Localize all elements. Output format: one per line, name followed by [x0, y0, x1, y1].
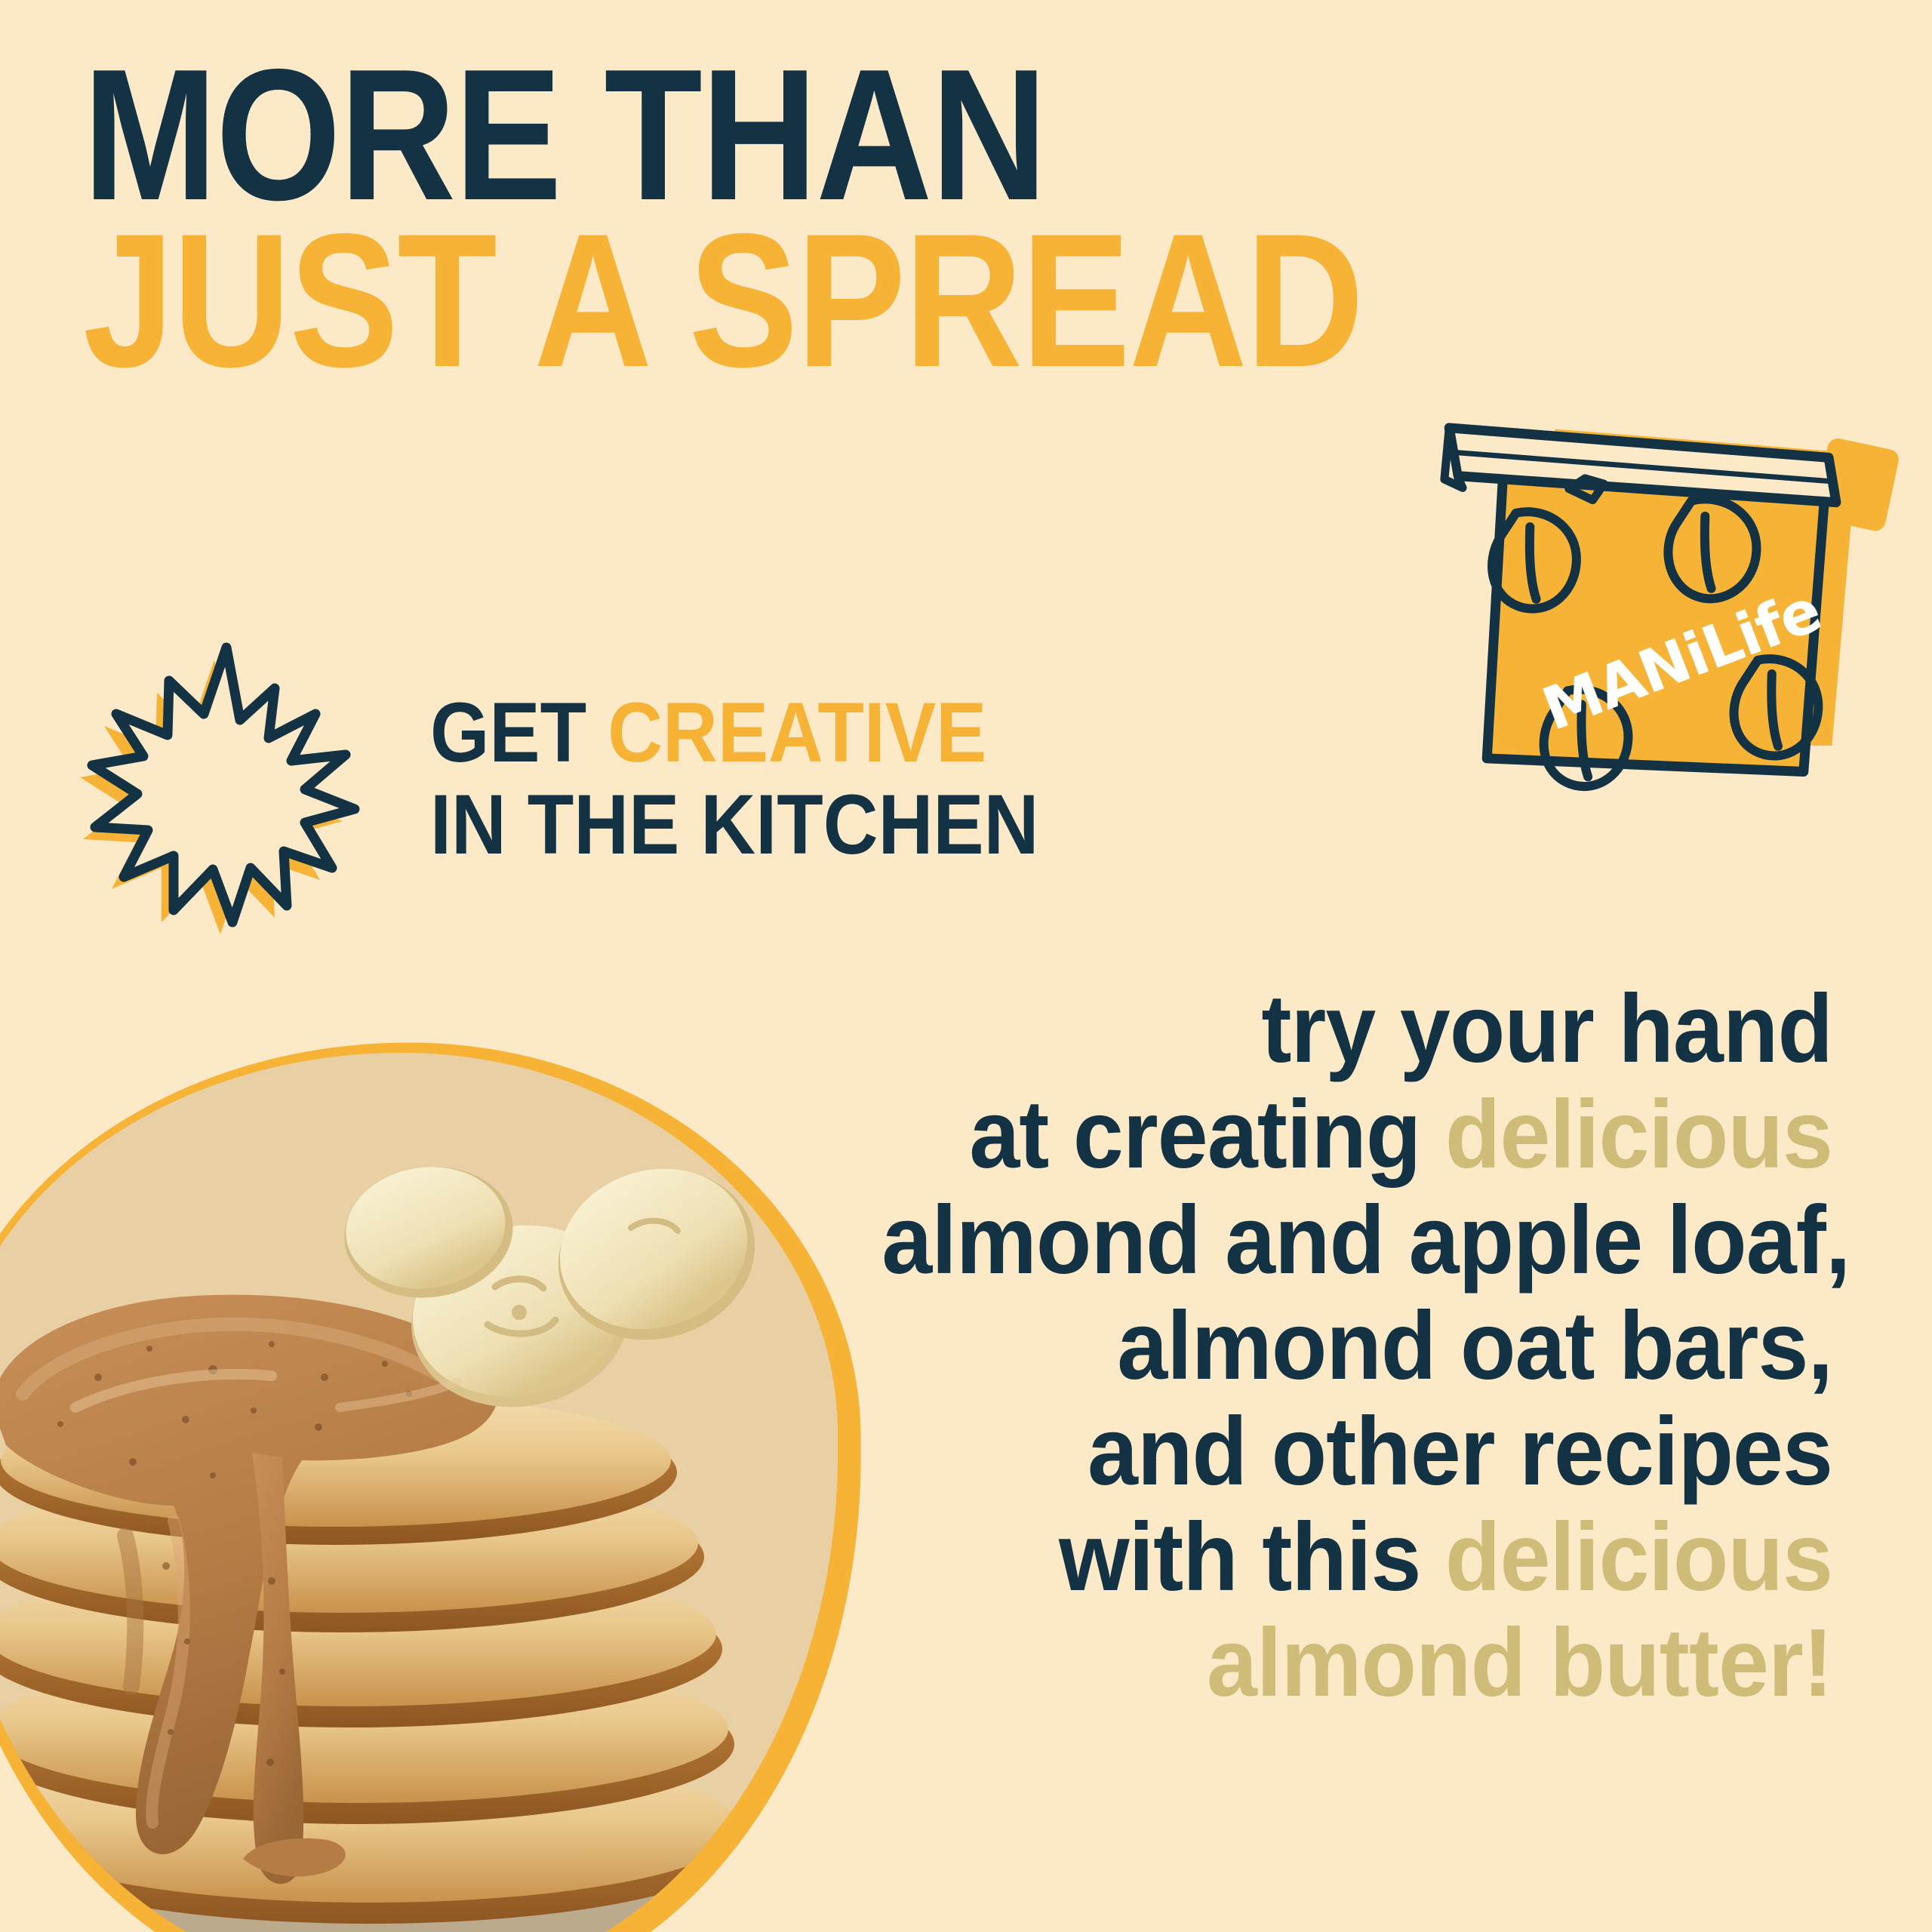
body-line-2-accent: delicious	[1445, 1081, 1832, 1189]
poster-canvas: MORE THAN JUST A SPREAD GET CREATIVE IN …	[0, 0, 1932, 1932]
subhead-prefix: GET	[430, 685, 608, 780]
almond-butter-jar-illustration: MANiLife	[1328, 377, 1917, 951]
body-line-4: almond oat bars,	[881, 1298, 1832, 1395]
subhead-accent: CREATIVE	[608, 685, 986, 780]
headline-line-1: MORE THAN	[83, 54, 1363, 215]
body-copy: try your hand at creating delicious almo…	[821, 981, 1832, 1712]
pancake-photo	[0, 1053, 838, 1932]
body-line-6: with this delicious	[881, 1509, 1832, 1606]
body-line-2-prefix: at creating	[969, 1081, 1445, 1189]
body-line-7: almond butter!	[881, 1615, 1832, 1712]
subhead-row: GET CREATIVE IN THE KITCHEN	[89, 634, 1146, 951]
body-line-6-prefix: with this	[1059, 1503, 1445, 1611]
subhead-text: GET CREATIVE IN THE KITCHEN	[430, 693, 1106, 866]
starburst-icon	[89, 641, 361, 928]
body-line-1: try your hand	[881, 981, 1832, 1078]
subhead-line-1: GET CREATIVE	[430, 693, 1038, 773]
body-line-2: at creating delicious	[881, 1087, 1832, 1183]
body-line-5: and other recipes	[881, 1404, 1832, 1500]
body-line-6-accent: delicious	[1445, 1503, 1832, 1611]
subhead-line-2: IN THE KITCHEN	[430, 785, 1038, 865]
headline-line-2: JUST A SPREAD	[83, 220, 1363, 383]
body-line-3: almond and apple loaf,	[881, 1192, 1832, 1289]
pancake-photo-image	[0, 1053, 838, 1932]
page-title: MORE THAN JUST A SPREAD	[83, 54, 1571, 383]
